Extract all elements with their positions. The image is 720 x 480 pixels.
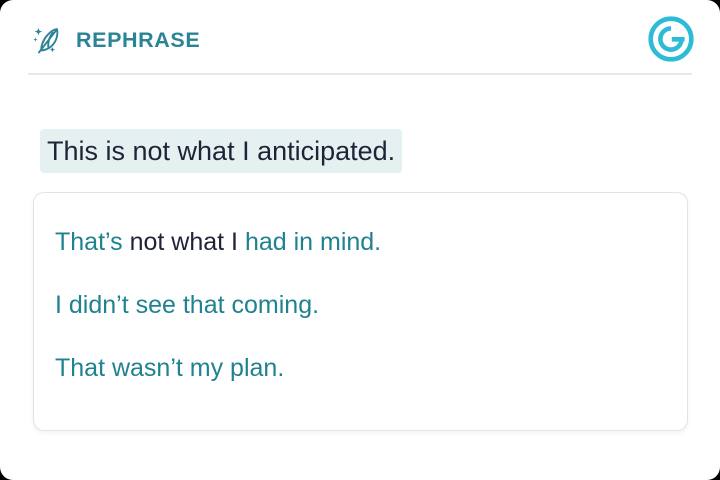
suggestion-segment: That wasn’t my plan. [55, 354, 284, 382]
suggestion-segment: had in mind. [245, 228, 381, 256]
panel-header: REPHRASE [0, 0, 720, 74]
rephrase-panel: REPHRASE This is not what I anticipated.… [0, 0, 720, 480]
brand: REPHRASE [28, 22, 200, 60]
suggestions-card: That’s not what I had in mind. I didn’t … [33, 192, 688, 431]
suggestion-segment: I didn’t see that coming. [55, 291, 319, 319]
header-divider [28, 73, 692, 75]
suggestion-item[interactable]: That’s not what I had in mind. [55, 211, 671, 274]
source-sentence-row: This is not what I anticipated. [40, 129, 402, 173]
grammarly-logo-icon[interactable] [648, 16, 694, 62]
suggestion-list: That’s not what I had in mind. I didn’t … [55, 211, 671, 400]
feather-sparkle-icon [28, 22, 66, 60]
suggestion-item[interactable]: That wasn’t my plan. [55, 337, 671, 400]
brand-title: REPHRASE [76, 30, 200, 52]
suggestion-segment: That’s [55, 228, 123, 256]
suggestion-item[interactable]: I didn’t see that coming. [55, 274, 671, 337]
source-sentence: This is not what I anticipated. [40, 129, 402, 173]
suggestion-segment: not what I [123, 228, 245, 256]
